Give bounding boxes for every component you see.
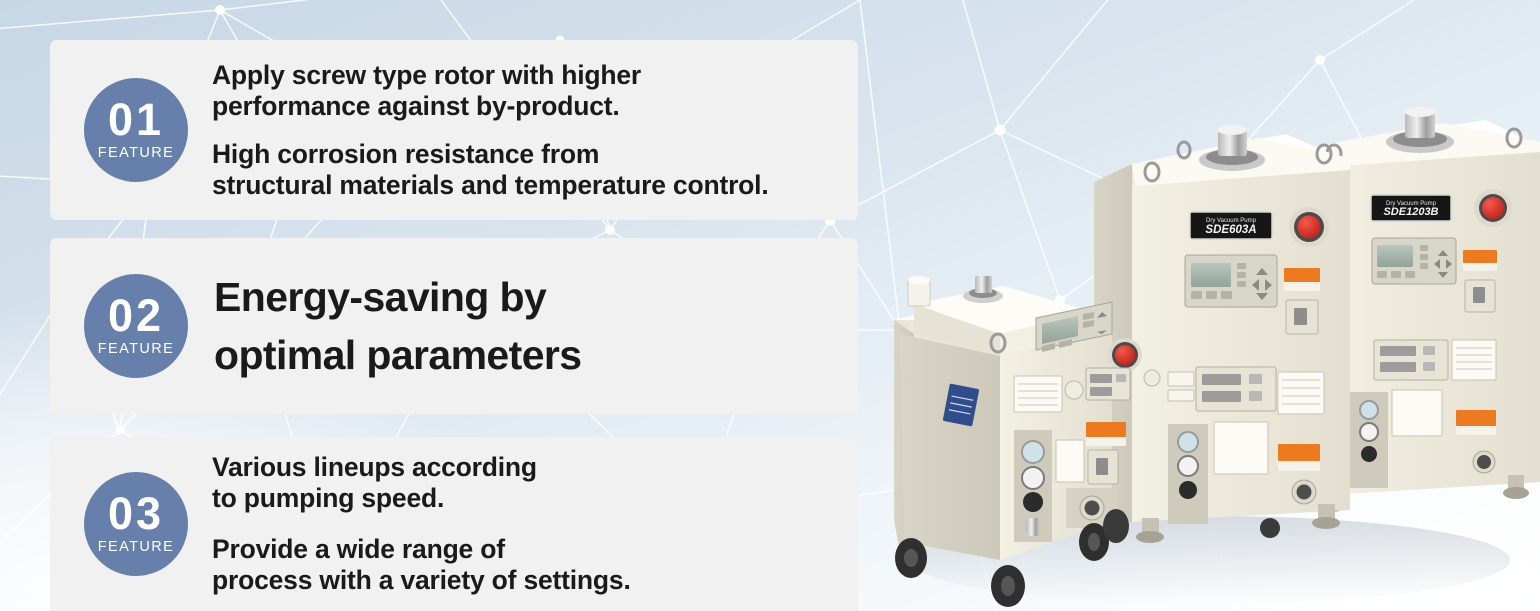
feature-text-03: Various lineups according to pumping spe… — [212, 452, 631, 596]
feature-badge-03: 03 FEATURE — [84, 472, 188, 576]
feature-panel-03: 03 FEATURE Various lineups according to … — [50, 437, 858, 611]
feature-line: Provide a wide range of — [212, 534, 631, 565]
gauges-large — [1360, 401, 1378, 462]
feature-line: process with a variety of settings. — [212, 565, 631, 596]
feature-line: Energy-saving by — [214, 268, 581, 326]
feature-paragraph: Energy-saving by optimal parameters — [214, 268, 581, 384]
feature-line: performance against by-product. — [212, 91, 769, 122]
feature-paragraph: High corrosion resistance from structura… — [212, 139, 769, 201]
feature-text-01: Apply screw type rotor with higher perfo… — [212, 60, 769, 201]
nameplate-large: Dry Vacuum Pump SDE1203B — [1371, 195, 1451, 221]
svg-text:SDE1203B: SDE1203B — [1383, 206, 1438, 218]
feature-paragraph: Provide a wide range of process with a v… — [212, 534, 631, 596]
feature-paragraph: Various lineups according to pumping spe… — [212, 452, 631, 514]
feature-paragraph: Apply screw type rotor with higher perfo… — [212, 60, 769, 122]
feature-panel-02: 02 FEATURE Energy-saving by optimal para… — [50, 238, 858, 414]
control-panel-large — [1372, 238, 1456, 284]
feature-number: 02 — [108, 294, 164, 337]
control-panel-medium — [1185, 255, 1277, 307]
feature-line: High corrosion resistance from — [212, 139, 769, 170]
feature-line: to pumping speed. — [212, 483, 631, 514]
feature-line: Apply screw type rotor with higher — [212, 60, 769, 91]
svg-text:SDE603A: SDE603A — [1205, 224, 1256, 236]
feature-line: Various lineups according — [212, 452, 631, 483]
feature-text-02: Energy-saving by optimal parameters — [214, 268, 581, 384]
feature-label: FEATURE — [98, 146, 174, 161]
medium-pump: Dry Vacuum Pump SDE603A — [1094, 125, 1350, 543]
feature-badge-02: 02 FEATURE — [84, 274, 188, 378]
feature-line: structural materials and temperature con… — [212, 170, 769, 201]
feature-line: optimal parameters — [214, 326, 581, 384]
feature-label: FEATURE — [98, 342, 174, 357]
feature-number: 01 — [108, 98, 164, 141]
feature-label: FEATURE — [98, 540, 174, 555]
nameplate-medium: Dry Vacuum Pump SDE603A — [1190, 212, 1272, 239]
feature-panel-01: 01 FEATURE Apply screw type rotor with h… — [50, 40, 858, 220]
product-photo: Dry Vacuum Pump SDE1203B — [880, 90, 1540, 611]
feature-badge-01: 01 FEATURE — [84, 78, 188, 182]
gauges-medium — [1178, 432, 1198, 499]
feature-number: 03 — [108, 492, 164, 535]
